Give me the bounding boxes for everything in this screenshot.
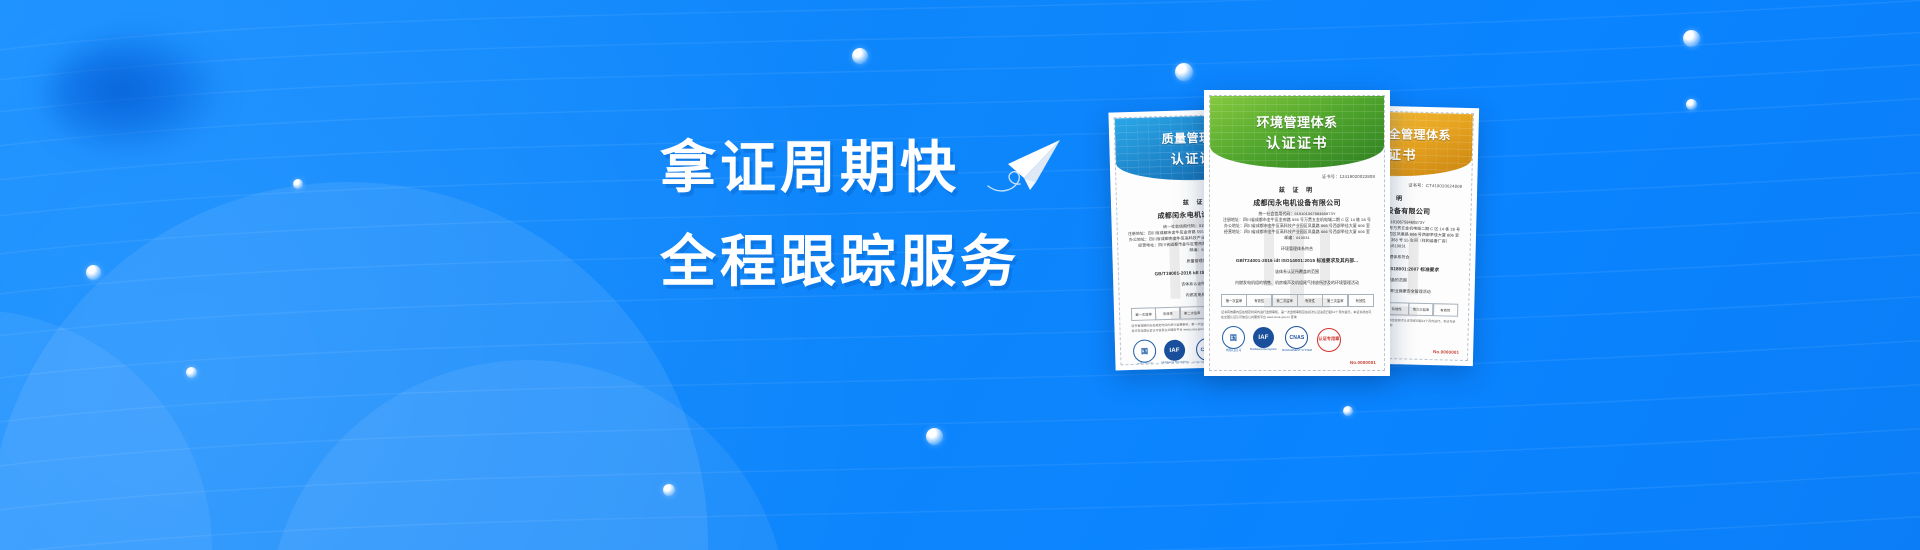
certificate-audit-row: 第一次监审 有效性 第二次监审 有效性 第三次监审 有效性 <box>1219 294 1375 307</box>
audit-box: 有效性 <box>1348 294 1374 307</box>
iaf-logo: IAF Multilateral Recognition <box>1161 340 1189 366</box>
audit-box: 有效性 <box>1433 303 1458 317</box>
headline-block: 拿证周期快 全程跟踪服务 <box>660 140 1020 290</box>
audit-box: 有效性 <box>1155 307 1180 321</box>
iaf-logo: IAF Multilateral Recognition <box>1250 327 1277 352</box>
audit-box: 第二次监审 <box>1180 306 1205 320</box>
decor-dot <box>1683 30 1700 47</box>
decor-dot <box>1686 99 1697 110</box>
paper-plane-icon <box>978 134 1064 204</box>
certificate-number: No.0000001 <box>1433 349 1459 355</box>
certificate-number: No.0000001 <box>1350 360 1376 365</box>
decor-dot <box>663 484 675 496</box>
certificate-group: 质量管理体系 认证证书 证书号：CT419020012808 兹 证 明 成都闰… <box>1108 74 1608 414</box>
audit-box: 第三次监审 <box>1408 303 1433 317</box>
decor-dot <box>86 265 101 280</box>
cnas-logo: CNAS MANAGEMENT SYSTEM <box>1282 326 1312 353</box>
audit-box: 有效性 <box>1297 294 1323 307</box>
certificate-meta-line: 邮编：610031 <box>1219 235 1375 241</box>
audit-box: 第一次监审 <box>1131 308 1156 322</box>
certificate-card-environment[interactable]: 环境管理体系 认证证书 证书号：12419020022808 兹 证 明 成都闰… <box>1204 90 1390 376</box>
cnca-logo: 国 中国认证认可 <box>1222 326 1245 353</box>
certificate-serial: 证书号：12419020022808 <box>1219 174 1375 180</box>
red-seal-icon: 认证专用章 <box>1317 328 1341 352</box>
decor-dot <box>852 48 868 64</box>
certificate-scope: 内燃发电机组的销售、机房噪声及机组尾气排放所涉及的环境管理活动 <box>1219 280 1375 286</box>
audit-box: 有效性 <box>1246 294 1272 307</box>
decor-circle-bottom <box>0 182 708 550</box>
certificate-body: 证书号：12419020022808 兹 证 明 成都闰永电机设备有限公司 统一… <box>1210 168 1384 357</box>
certificate-title-line1: 环境管理体系 <box>1256 112 1337 131</box>
headline-line-2: 全程跟踪服务 <box>660 234 1020 290</box>
certificate-fineprint: 证书有效期内应在规定时间内进行监督审核，第一次监督审核应在初次认证决定日起12个… <box>1219 310 1375 319</box>
certificate-logo-row: 国 中国认证认可 IAF Multilateral Recognition CN… <box>1219 326 1375 357</box>
certificate-system-label: 环境管理体系符合 <box>1219 246 1375 252</box>
headline-line-1: 拿证周期快 <box>660 140 1020 196</box>
audit-box: 第一次监审 <box>1221 294 1247 307</box>
promo-banner: 拿证周期快 全程跟踪服务 质量管理体系 认证证书 证书号 <box>0 0 1920 550</box>
decor-circle-left <box>0 310 212 550</box>
certificate-header: 环境管理体系 认证证书 <box>1210 96 1384 168</box>
decor-dot <box>926 428 943 445</box>
cnca-logo: 国 中国认证认可 <box>1133 340 1157 366</box>
certificate-company: 成都闰永电机设备有限公司 <box>1219 198 1375 208</box>
certificate-inner-border: 环境管理体系 认证证书 证书号：12419020022808 兹 证 明 成都闰… <box>1209 95 1385 371</box>
certificate-title-line2: 认证证书 <box>1266 133 1328 153</box>
decor-circle-right <box>268 360 788 550</box>
decor-dot <box>293 179 303 189</box>
glow-blob <box>46 36 226 156</box>
audit-box: 第三次监审 <box>1322 294 1348 307</box>
certificate-standard: GB/T24001-2016 idt ISO14001:2015 标准要求及其内… <box>1219 258 1375 264</box>
decor-dot <box>186 367 197 378</box>
audit-box: 第二次监审 <box>1272 294 1298 307</box>
certificate-scope-head: 该体系认证所覆盖的范围 <box>1219 269 1375 275</box>
certificate-label: 兹 证 明 <box>1219 185 1375 194</box>
